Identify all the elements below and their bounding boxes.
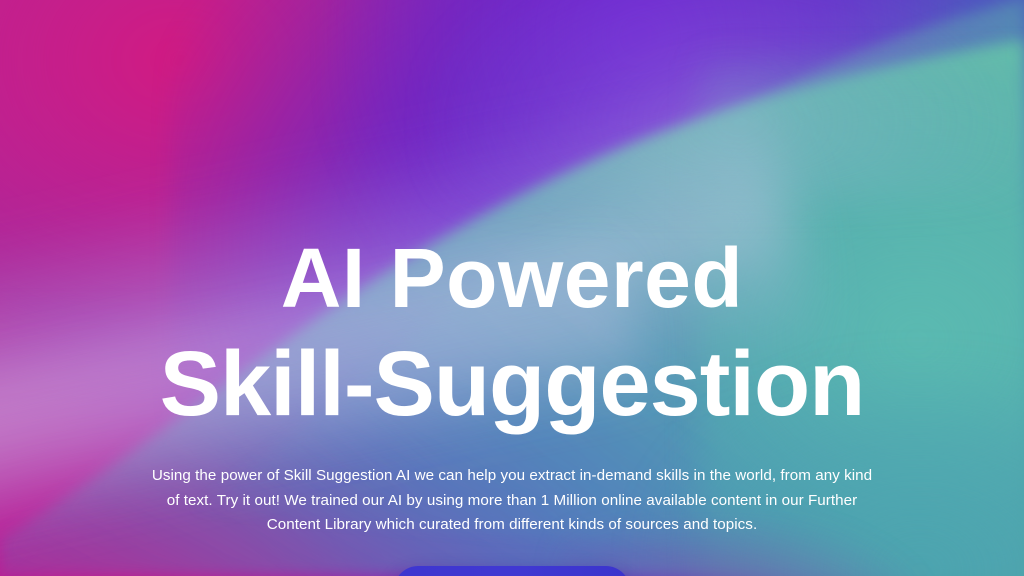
cta-container: Try it out bbox=[0, 566, 1024, 576]
try-it-out-button[interactable]: Try it out bbox=[394, 566, 630, 576]
hero-description: Using the power of Skill Suggestion AI w… bbox=[147, 464, 877, 538]
page-title: AI Powered Skill-Suggestion bbox=[0, 0, 1024, 430]
page-title-line-2: Skill-Suggestion bbox=[0, 338, 1024, 430]
page-title-line-1: AI Powered bbox=[0, 236, 1024, 320]
hero-section: AI Powered Skill-Suggestion Using the po… bbox=[0, 0, 1024, 576]
hero-content: AI Powered Skill-Suggestion Using the po… bbox=[0, 0, 1024, 576]
